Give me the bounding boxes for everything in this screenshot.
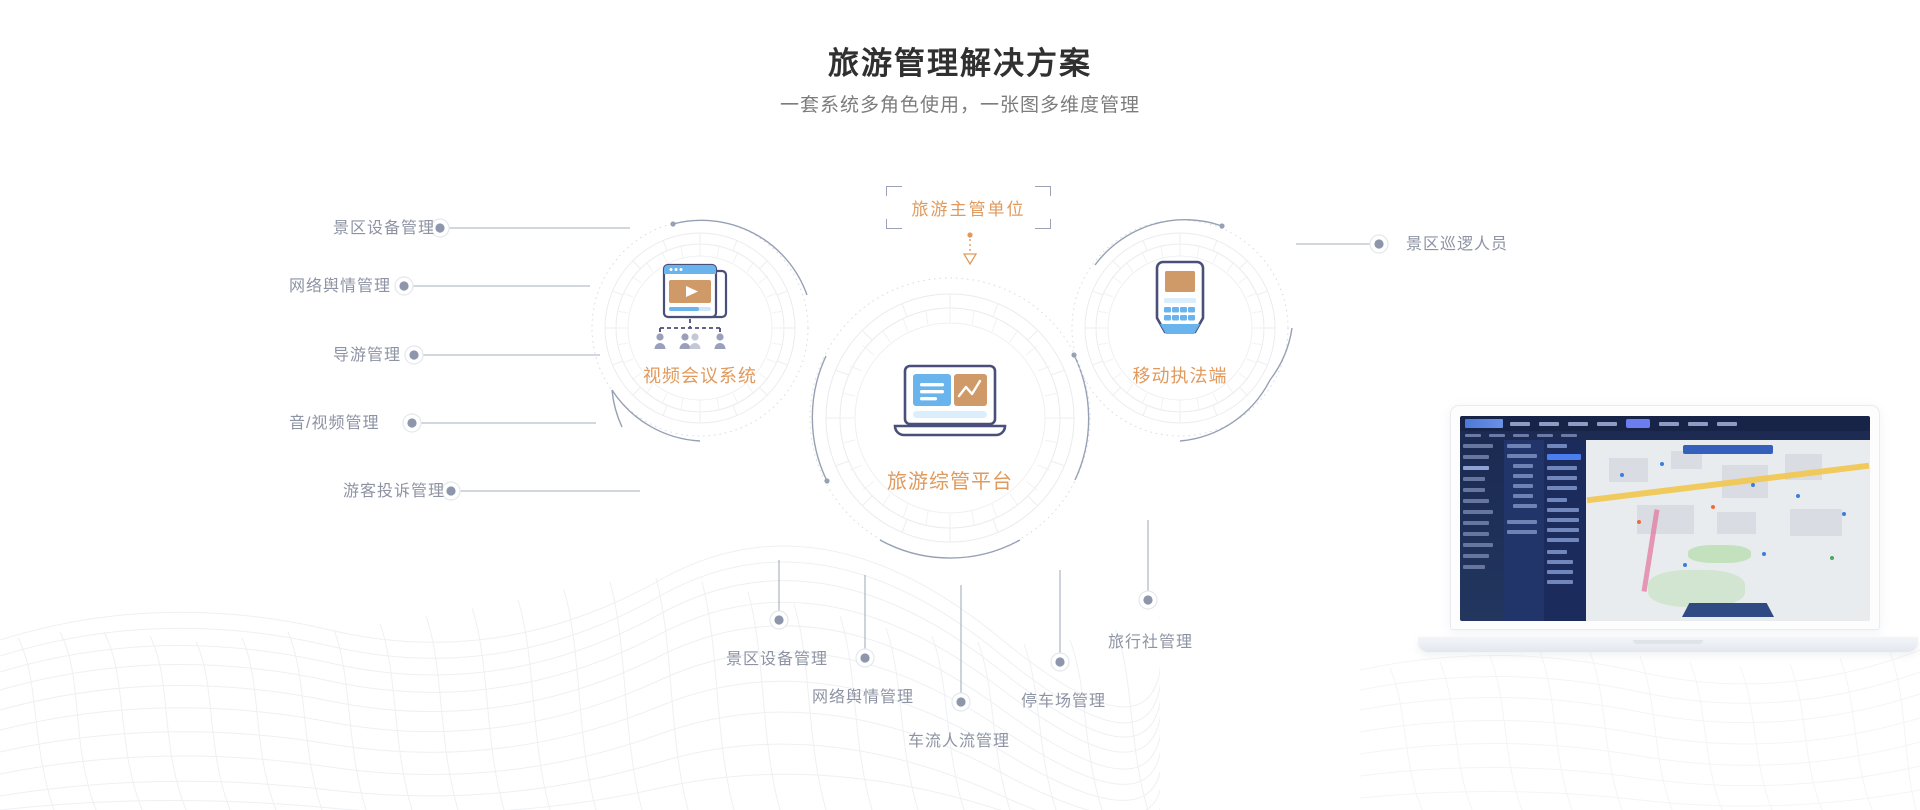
sidebar-item-3[interactable]: [1463, 477, 1485, 481]
laptop-screen: [1460, 416, 1870, 621]
layer-item-6[interactable]: [1547, 528, 1579, 532]
nav-item-6[interactable]: [1688, 422, 1708, 426]
tab-3[interactable]: [1537, 434, 1553, 437]
connector-label-left-4[interactable]: 音/视频管理: [289, 409, 379, 433]
layer-item-3[interactable]: [1547, 486, 1577, 490]
connector-label-bottom-4[interactable]: 停车场管理: [1021, 687, 1106, 711]
app-tab-bar[interactable]: [1460, 431, 1870, 440]
cluster-label-mobile-enforcement: 移动执法端: [1070, 362, 1290, 388]
connector-label-right-1[interactable]: 景区巡逻人员: [1406, 230, 1508, 254]
solution-infographic: 旅游管理解决方案 一套系统多角色使用，一张图多维度管理 旅游主管单位: [0, 0, 1920, 810]
layer-item-4[interactable]: [1547, 508, 1579, 512]
video-window-icon: [590, 260, 810, 352]
cluster-tourism-platform[interactable]: 旅游综管平台: [810, 280, 1090, 560]
app-body: [1460, 440, 1870, 621]
map-function-bar[interactable]: [1682, 603, 1774, 617]
region-node-5[interactable]: [1513, 494, 1533, 498]
layer-item-7[interactable]: [1547, 538, 1579, 542]
page-subtitle: 一套系统多角色使用，一张图多维度管理: [0, 90, 1920, 117]
sidebar-item-4[interactable]: [1463, 488, 1485, 492]
cluster-label-video-conference: 视频会议系统: [590, 362, 810, 388]
authority-box[interactable]: 旅游主管单位: [886, 186, 1051, 229]
tab-1[interactable]: [1489, 434, 1505, 437]
connector-label-bottom-2[interactable]: 网络舆情管理: [812, 683, 914, 707]
nav-item-active[interactable]: [1626, 419, 1650, 428]
handheld-terminal-icon: [1070, 260, 1290, 348]
cluster-video-conference[interactable]: 视频会议系统: [590, 218, 810, 438]
map-view-toolbar[interactable]: [1683, 445, 1773, 454]
app-logo-icon: [1465, 419, 1503, 428]
tab-0[interactable]: [1465, 434, 1481, 437]
layer-item-9[interactable]: [1547, 570, 1573, 574]
layer-item-active[interactable]: [1547, 454, 1581, 460]
sidebar-item-5[interactable]: [1463, 499, 1489, 503]
nav-item-0[interactable]: [1510, 422, 1530, 426]
left-connector-dots: [395, 219, 460, 500]
nav-item-7[interactable]: [1717, 422, 1737, 426]
layer-item-5[interactable]: [1547, 518, 1579, 522]
sidebar-item-9[interactable]: [1463, 543, 1493, 547]
layer-group-1: [1547, 498, 1567, 502]
region-node-0[interactable]: [1507, 444, 1531, 448]
region-node-6[interactable]: [1513, 504, 1537, 508]
cluster-mobile-enforcement[interactable]: 移动执法端: [1070, 220, 1290, 440]
layer-item-2[interactable]: [1547, 476, 1577, 480]
connector-label-bottom-5[interactable]: 旅行社管理: [1108, 628, 1193, 652]
authority-box-label: 旅游主管单位: [886, 186, 1051, 229]
layer-group-2: [1547, 550, 1567, 554]
laptop-mockup: [1418, 405, 1918, 650]
app-map-canvas[interactable]: [1586, 440, 1870, 621]
layer-item-1[interactable]: [1547, 466, 1577, 470]
nav-item-5[interactable]: [1659, 422, 1679, 426]
sidebar-item-0[interactable]: [1463, 444, 1493, 448]
background-terrain-mesh: [0, 520, 1160, 810]
nav-item-2[interactable]: [1568, 422, 1588, 426]
sidebar-item-6[interactable]: [1463, 510, 1493, 514]
sidebar-item-1[interactable]: [1463, 455, 1489, 459]
page-title: 旅游管理解决方案: [0, 38, 1920, 83]
region-node-2[interactable]: [1513, 464, 1533, 468]
nav-item-1[interactable]: [1539, 422, 1559, 426]
sidebar-item-10[interactable]: [1463, 554, 1489, 558]
nav-item-3[interactable]: [1597, 422, 1617, 426]
sidebar-item-11[interactable]: [1463, 565, 1485, 569]
region-node-4[interactable]: [1513, 484, 1533, 488]
app-sidebar[interactable]: [1460, 440, 1504, 621]
layer-item-8[interactable]: [1547, 560, 1573, 564]
sidebar-item-8[interactable]: [1463, 532, 1489, 536]
sidebar-item-2[interactable]: [1463, 466, 1489, 470]
tab-4[interactable]: [1561, 434, 1577, 437]
laptop-dashboard-icon: [810, 362, 1090, 446]
region-node-7[interactable]: [1507, 520, 1537, 524]
connector-label-left-3[interactable]: 导游管理: [333, 341, 401, 365]
laptop-base: [1418, 637, 1918, 652]
connector-label-left-2[interactable]: 网络舆情管理: [289, 272, 391, 296]
layer-group-0: [1547, 444, 1567, 448]
region-node-8[interactable]: [1507, 530, 1537, 534]
right-connector-dots: [1370, 235, 1388, 253]
connector-label-left-1[interactable]: 景区设备管理: [333, 214, 435, 238]
platform-app-ui: [1460, 416, 1870, 621]
sidebar-item-7[interactable]: [1463, 521, 1489, 525]
region-node-3[interactable]: [1513, 474, 1533, 478]
connector-label-bottom-1[interactable]: 景区设备管理: [726, 645, 828, 669]
connector-label-left-5[interactable]: 游客投诉管理: [343, 477, 445, 501]
app-layer-panel[interactable]: [1544, 440, 1586, 621]
app-region-tree-panel[interactable]: [1504, 440, 1544, 621]
tab-2[interactable]: [1513, 434, 1529, 437]
app-nav-items[interactable]: [1510, 419, 1737, 428]
laptop-notch: [1633, 640, 1703, 644]
connector-label-bottom-3[interactable]: 车流人流管理: [908, 727, 1010, 751]
region-node-1[interactable]: [1507, 454, 1537, 458]
layer-item-10[interactable]: [1547, 580, 1573, 584]
down-triangle-arrow-icon: [955, 232, 985, 266]
cluster-label-tourism-platform: 旅游综管平台: [810, 465, 1090, 494]
laptop-lid: [1450, 405, 1880, 630]
app-top-nav[interactable]: [1460, 416, 1870, 431]
